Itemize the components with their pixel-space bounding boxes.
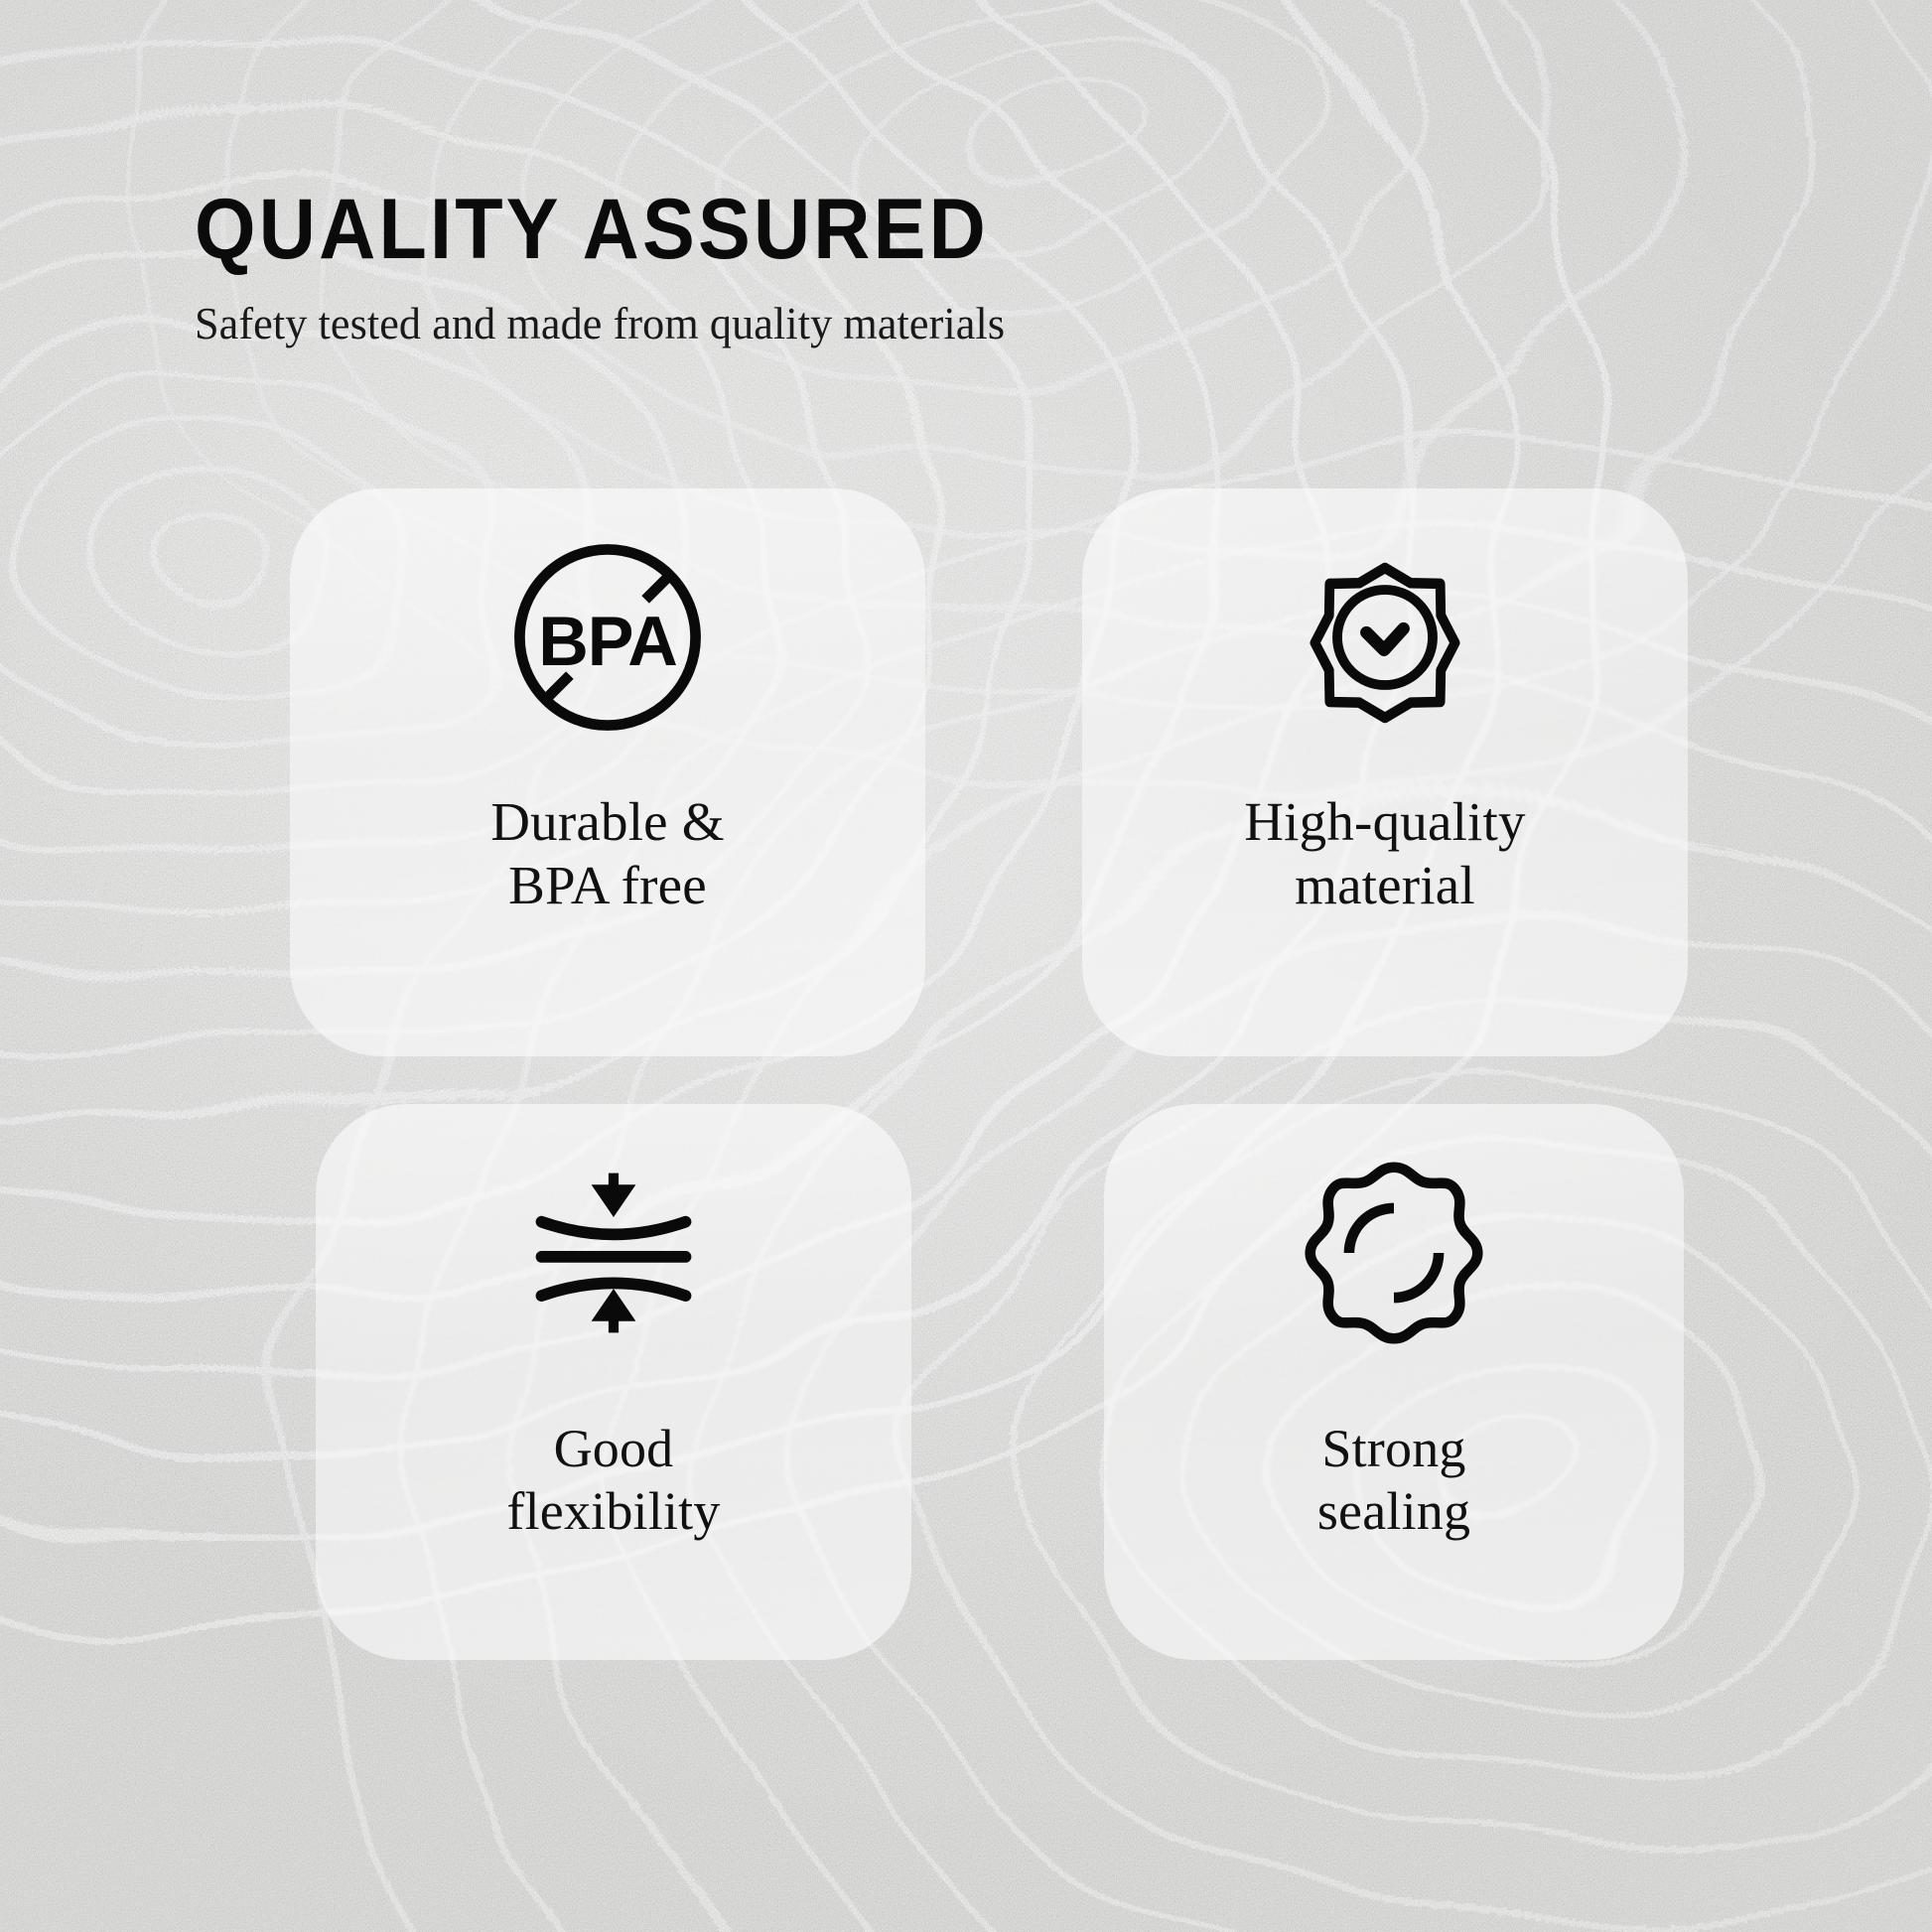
label-line: flexibility	[506, 1480, 720, 1543]
feature-card-label: High-quality material	[1244, 790, 1525, 917]
feature-card-label: Durable & BPA free	[490, 790, 724, 917]
bpa-icon-text: BPA	[538, 603, 677, 680]
label-line: BPA free	[490, 854, 724, 917]
seal-rotate-icon	[1104, 1104, 1684, 1402]
flexibility-compression-icon	[316, 1104, 911, 1402]
label-line: Strong	[1317, 1418, 1470, 1480]
label-line: Durable &	[490, 790, 724, 854]
feature-card-strong-sealing: Strong sealing	[1104, 1104, 1684, 1660]
feature-card-label: Good flexibility	[506, 1418, 720, 1542]
label-line: material	[1244, 854, 1525, 917]
label-line: sealing	[1317, 1480, 1470, 1543]
feature-card-good-flexibility: Good flexibility	[316, 1104, 911, 1660]
infographic-canvas: QUALITY ASSURED Safety tested and made f…	[0, 0, 1932, 1932]
feature-grid: BPA Durable & BPA free High-quality mat	[0, 0, 1932, 1932]
feature-card-high-quality-material: High-quality material	[1082, 488, 1688, 1056]
bpa-free-icon: BPA	[290, 488, 925, 786]
label-line: Good	[506, 1418, 720, 1480]
feature-card-label: Strong sealing	[1317, 1418, 1470, 1542]
label-line: High-quality	[1244, 790, 1525, 854]
feature-card-bpa-free: BPA Durable & BPA free	[290, 488, 925, 1056]
quality-badge-check-icon	[1082, 488, 1688, 786]
